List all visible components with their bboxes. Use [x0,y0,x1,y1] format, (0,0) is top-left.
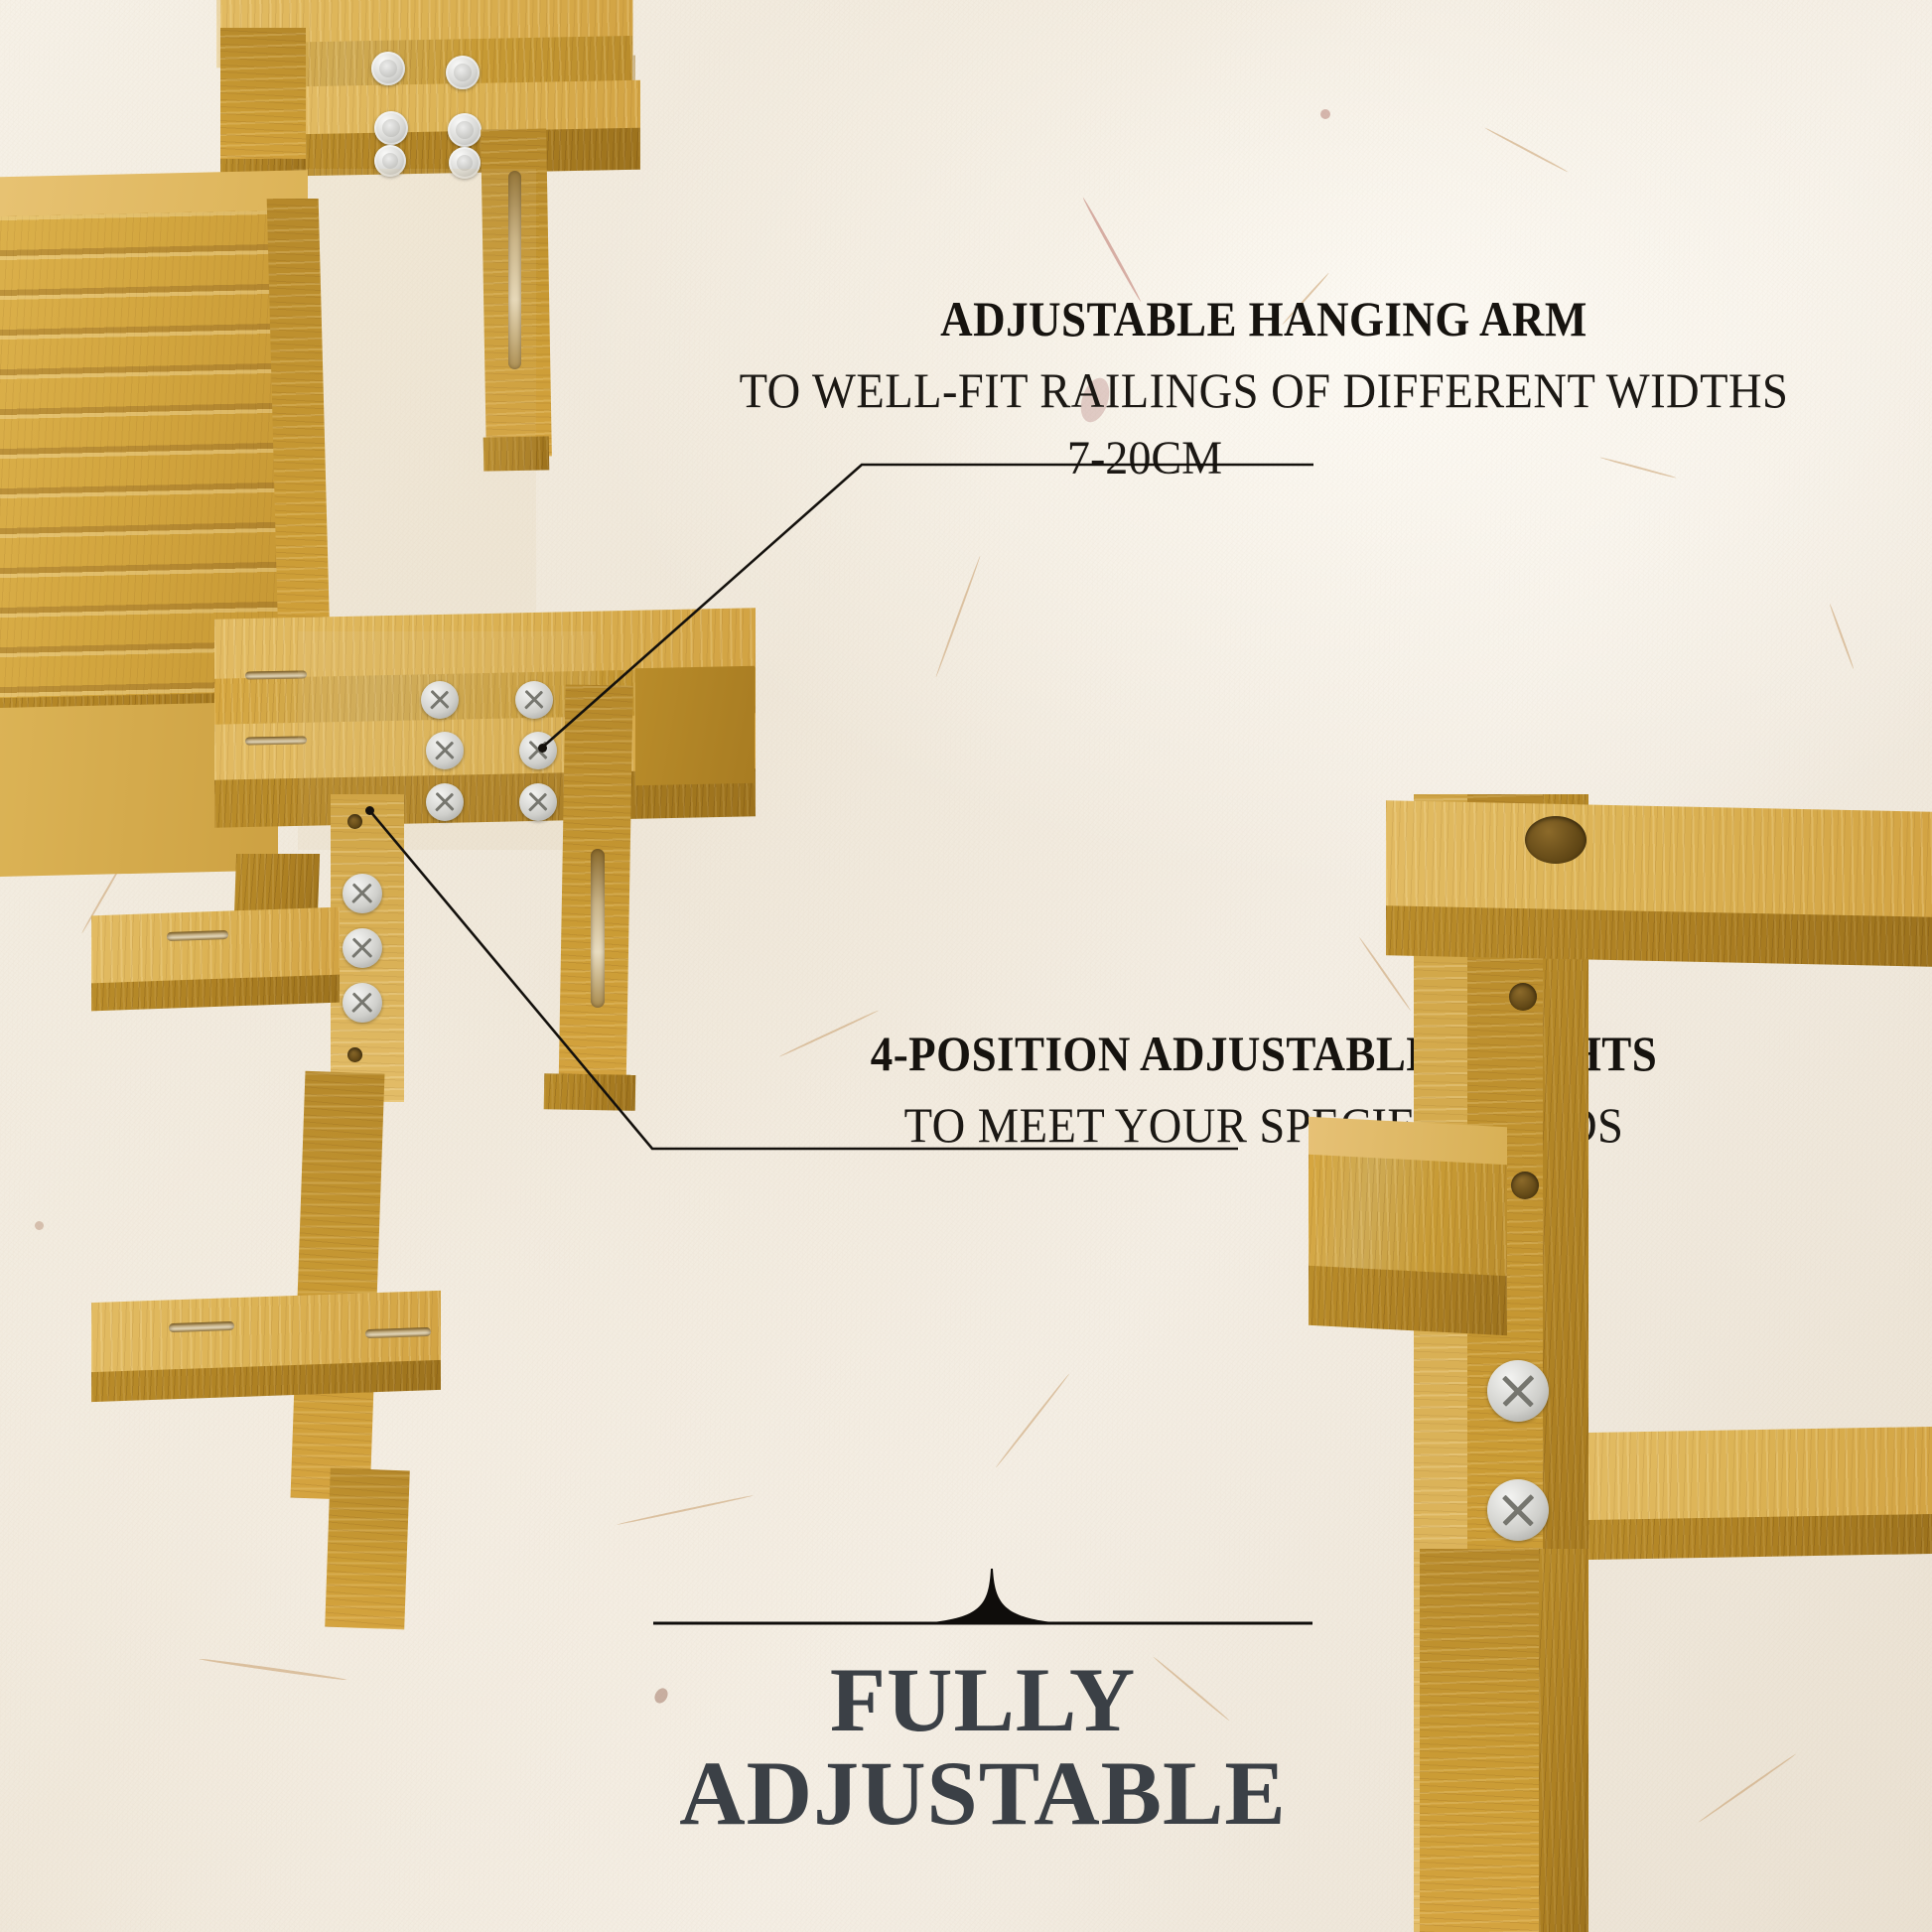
leader-dot-hanging-arm [538,744,547,753]
screw-mid-1 [421,681,459,719]
callout-hanging-arm: ADJUSTABLE HANGING ARM TO WELL-FIT RAILI… [596,290,1932,485]
page-title: FULLY ADJUSTABLE [616,1654,1350,1841]
inset-hole-1 [1509,983,1537,1011]
flame-peak-icon [933,1569,1052,1622]
top-bracket-left [220,28,306,177]
callout-1-title: ADJUSTABLE HANGING ARM [662,290,1864,347]
divider-ornament [635,1561,1330,1640]
inset-top-beam [1386,800,1932,923]
screw-mid-2 [515,681,553,719]
inset-shelf-underside [1309,1266,1507,1335]
inset-post-lower-shadow [1539,1549,1588,1932]
inset-closeup-panel [1291,794,1932,1932]
ghost-plate-top [294,169,536,665]
bolt-top-2 [446,56,480,89]
screw-mid-5 [426,783,464,821]
inset-hole-2 [1511,1172,1539,1199]
bolt-top-3 [374,111,408,145]
inset-post-lower [1420,1549,1539,1932]
inset-screw-2 [1487,1479,1549,1541]
page-title-line1: FULLY [616,1654,1350,1747]
inset-shelf-face [1309,1155,1507,1284]
mid-rail-end-cap [635,666,755,786]
height-hole-1 [347,814,362,829]
callout-1-subtitle: TO WELL-FIT RAILINGS OF DIFFERENT WIDTHS [642,361,1885,419]
screw-mid-6 [519,783,557,821]
bolt-top-1 [371,52,405,85]
screw-mid-3 [426,732,464,769]
leg-foot-extension [325,1468,410,1630]
inset-beam-hole [1525,816,1587,864]
height-hole-2 [347,1047,362,1062]
bolt-top-4 [448,113,482,147]
height-screw-1 [343,874,382,913]
hanging-arm-mid-slot [591,849,605,1008]
height-screw-3 [343,983,382,1023]
page-title-line2: ADJUSTABLE [616,1747,1350,1841]
leader-dot-adjustable-heights [365,806,374,815]
inset-screw-1 [1487,1360,1549,1422]
inset-lower-beam [1588,1427,1932,1528]
inset-lower-beam-edge [1588,1514,1932,1560]
infographic-canvas: ADJUSTABLE HANGING ARM TO WELL-FIT RAILI… [0,0,1932,1932]
leg-lower [291,1071,385,1501]
height-screw-2 [343,928,382,968]
callout-1-measurement: 7-20CM [618,431,1672,485]
